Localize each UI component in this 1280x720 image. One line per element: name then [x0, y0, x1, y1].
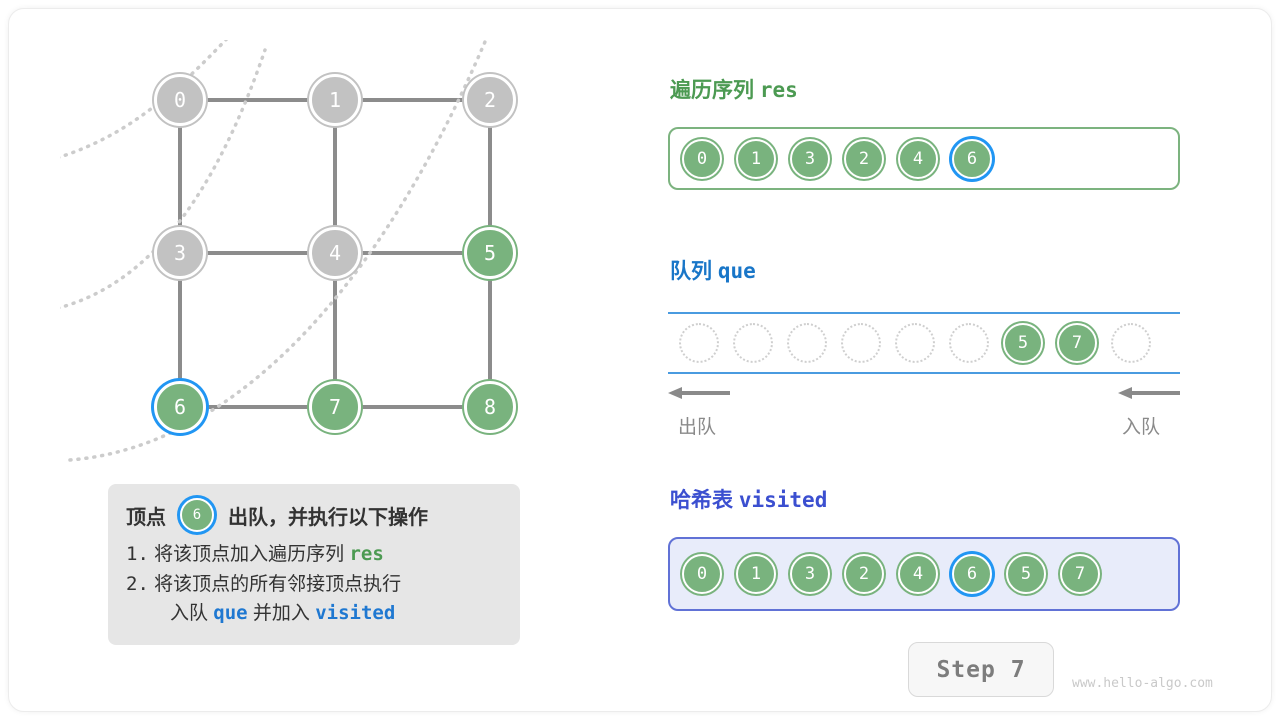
- res-container: 013246: [668, 127, 1180, 190]
- enqueue-label: 入队: [1122, 412, 1160, 439]
- step-badge: Step 7: [908, 642, 1054, 697]
- watermark: www.hello-algo.com: [1072, 676, 1213, 691]
- queue-container: 57: [668, 312, 1180, 374]
- visited-section-title: 哈希表 visited: [670, 484, 827, 514]
- caption-step-1: 1. 将该顶点加入遍历序列 res: [126, 540, 502, 570]
- visited-item-0: 0: [682, 554, 722, 594]
- res-item-0: 0: [682, 139, 722, 179]
- graph-node-5: 5: [464, 227, 516, 279]
- dequeue-label: 出队: [678, 412, 716, 439]
- caption-step-2-code-a: que: [213, 602, 247, 624]
- graph-node-8: 8: [464, 381, 516, 433]
- res-item-1: 1: [736, 139, 776, 179]
- caption-box: 顶点 6 出队，并执行以下操作 1. 将该顶点加入遍历序列 res 2. 将该顶…: [108, 484, 520, 645]
- caption-step-2-number: 2.: [126, 573, 149, 595]
- queue-slot-7: 7: [1057, 323, 1097, 363]
- dequeue-arrow-icon: [668, 386, 730, 400]
- caption-head-suffix: 出队，并执行以下操作: [228, 501, 428, 530]
- dotted-curve-3: [70, 40, 490, 460]
- caption-step-2-text-b: 并加入: [253, 603, 310, 624]
- graph-node-1: 1: [309, 74, 361, 126]
- graph-node-3: 3: [154, 227, 206, 279]
- queue-slot-list: 57: [679, 323, 1151, 363]
- caption-step-2-text: 将该顶点的所有邻接顶点执行: [154, 574, 401, 595]
- visited-item-7: 7: [1060, 554, 1100, 594]
- res-title-code: res: [760, 78, 798, 102]
- graph-node-6: 6: [154, 381, 206, 433]
- visited-item-1: 1: [736, 554, 776, 594]
- visited-title-text: 哈希表: [670, 489, 733, 512]
- graph-node-0: 0: [154, 74, 206, 126]
- queue-slot-3: [841, 323, 881, 363]
- caption-step-1-text: 将该顶点加入遍历序列: [154, 544, 344, 565]
- queue-title-text: 队列: [670, 260, 712, 283]
- res-item-3: 2: [844, 139, 884, 179]
- res-title-text: 遍历序列: [670, 79, 754, 102]
- caption-step-1-code: res: [349, 543, 383, 565]
- queue-rail-top: [668, 312, 1180, 314]
- res-item-5: 6: [952, 139, 992, 179]
- queue-slot-0: [679, 323, 719, 363]
- queue-slot-4: [895, 323, 935, 363]
- visited-item-5: 6: [952, 554, 992, 594]
- queue-title-code: que: [718, 259, 756, 283]
- caption-head-prefix: 顶点: [126, 501, 166, 530]
- visited-item-4: 4: [898, 554, 938, 594]
- res-item-4: 4: [898, 139, 938, 179]
- graph-node-4: 4: [309, 227, 361, 279]
- decorative-dotted-curves: [60, 40, 490, 460]
- enqueue-arrow-icon: [1118, 386, 1180, 400]
- caption-step-2-code-b: visited: [315, 602, 395, 624]
- queue-section-title: 队列 que: [670, 255, 756, 285]
- caption-vertex-badge: 6: [180, 498, 214, 532]
- res-section-title: 遍历序列 res: [670, 74, 798, 104]
- queue-slot-1: [733, 323, 773, 363]
- caption-step-1-number: 1.: [126, 543, 149, 565]
- screenshot-canvas: 012345678 顶点 6 出队，并执行以下操作 1. 将该顶点加入遍历序列 …: [0, 0, 1280, 720]
- visited-item-2: 3: [790, 554, 830, 594]
- res-item-2: 3: [790, 139, 830, 179]
- queue-arrow-row: [668, 386, 1180, 402]
- queue-slot-8: [1111, 323, 1151, 363]
- caption-step-2-text-a: 入队: [170, 603, 208, 624]
- queue-slot-5: [949, 323, 989, 363]
- visited-item-3: 2: [844, 554, 884, 594]
- graph-panel: 012345678: [60, 40, 620, 490]
- queue-slot-2: [787, 323, 827, 363]
- graph-node-2: 2: [464, 74, 516, 126]
- graph-node-7: 7: [309, 381, 361, 433]
- queue-slot-6: 5: [1003, 323, 1043, 363]
- visited-title-code: visited: [739, 488, 828, 512]
- caption-step-2: 2. 将该顶点的所有邻接顶点执行: [126, 570, 502, 600]
- caption-step-2-continued: 入队 que 并加入 visited: [126, 599, 502, 629]
- queue-rail-bottom: [668, 372, 1180, 374]
- visited-item-6: 5: [1006, 554, 1046, 594]
- caption-headline: 顶点 6 出队，并执行以下操作: [126, 498, 502, 532]
- visited-container: 01324657: [668, 537, 1180, 611]
